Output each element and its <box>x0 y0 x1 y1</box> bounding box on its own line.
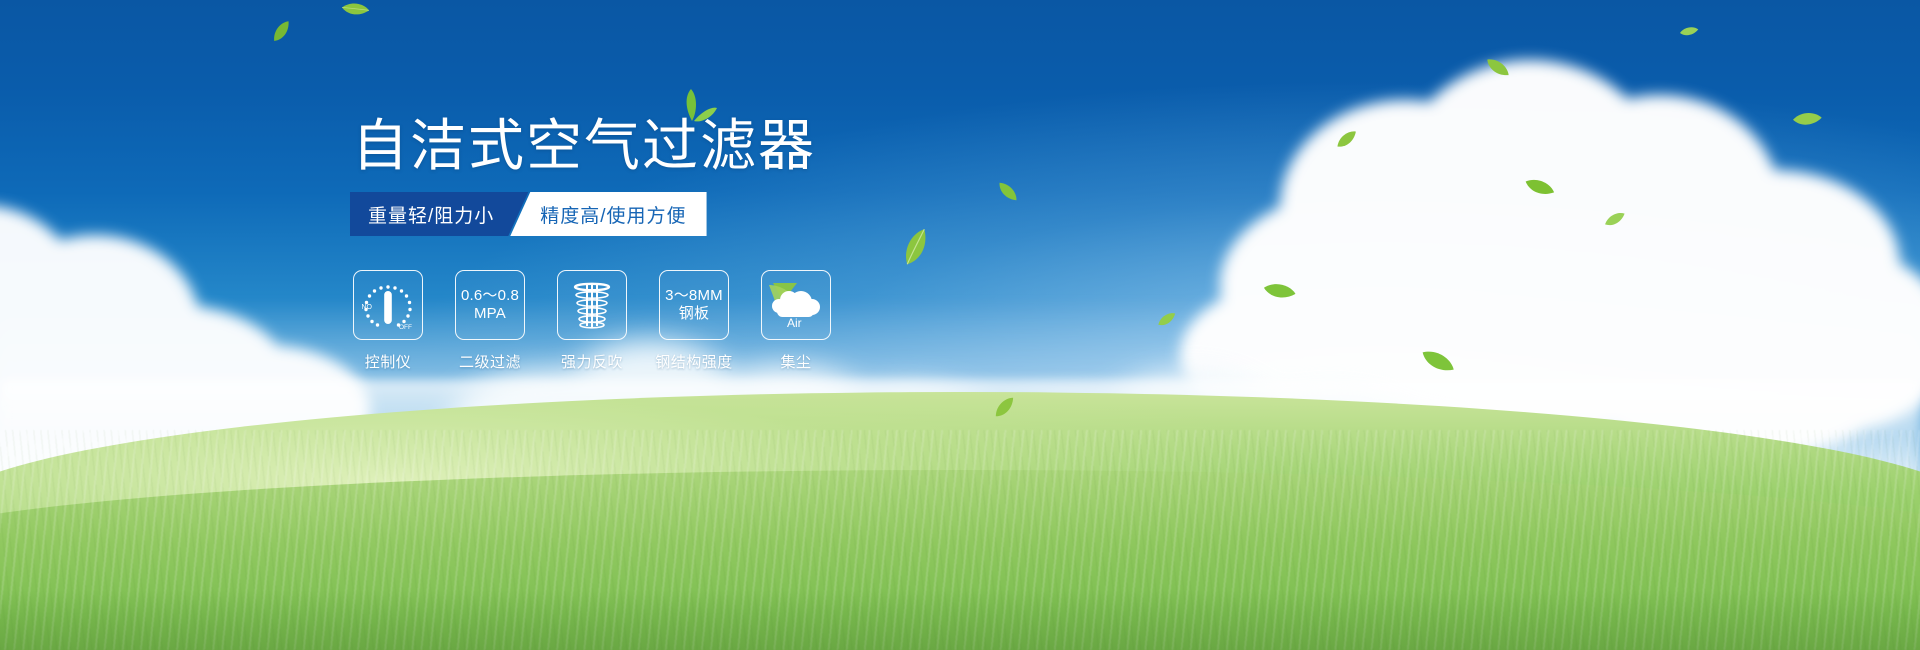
feature-icon-box: NO OFF <box>353 270 423 340</box>
steel-material: 钢板 <box>665 305 723 323</box>
feature-item[interactable]: Air 集尘 <box>758 270 834 372</box>
control-dial-icon: NO OFF <box>360 279 416 331</box>
pressure-range: 0.6～0.8 <box>461 287 519 304</box>
feature-icon-box <box>557 270 627 340</box>
pressure-text-icon: 0.6～0.8 MPA <box>461 287 519 323</box>
air-cloud-icon: Air <box>767 279 825 331</box>
badge-precision: 精度高/使用方便 <box>510 192 706 236</box>
feature-item[interactable]: NO OFF 控制仪 <box>350 270 426 372</box>
banner-content: 自洁式空气过滤器 重量轻/阻力小 精度高/使用方便 <box>0 0 1920 650</box>
page-title: 自洁式空气过滤器 <box>352 113 816 179</box>
feature-icon-box: 0.6～0.8 MPA <box>455 270 525 340</box>
badge-lightweight: 重量轻/阻力小 <box>350 192 528 236</box>
feature-icon-box: 3～8MM 钢板 <box>659 270 729 340</box>
svg-text:NO: NO <box>362 304 373 311</box>
subtitle-badges: 重量轻/阻力小 精度高/使用方便 <box>350 192 707 236</box>
steel-plate-text-icon: 3～8MM 钢板 <box>665 287 723 323</box>
product-banner: 自洁式空气过滤器 重量轻/阻力小 精度高/使用方便 <box>0 0 1920 650</box>
feature-item[interactable]: 0.6～0.8 MPA 二级过滤 <box>452 270 528 372</box>
svg-text:OFF: OFF <box>399 324 412 331</box>
steel-thickness: 3～8MM <box>665 287 723 304</box>
feature-label: 强力反吹 <box>561 351 623 372</box>
pressure-unit: MPA <box>461 305 519 323</box>
feature-item[interactable]: 强力反吹 <box>554 270 630 372</box>
feature-label: 集尘 <box>780 351 811 372</box>
air-label: Air <box>787 316 802 330</box>
feature-icon-box: Air <box>761 270 831 340</box>
feature-list: NO OFF 控制仪 0.6～0.8 MPA 二级过滤 <box>350 270 834 372</box>
feature-label: 钢结构强度 <box>655 351 733 372</box>
blowback-coil-icon <box>568 279 616 331</box>
feature-label: 控制仪 <box>365 351 412 372</box>
feature-label: 二级过滤 <box>459 351 521 372</box>
feature-item[interactable]: 3～8MM 钢板 钢结构强度 <box>656 270 732 372</box>
